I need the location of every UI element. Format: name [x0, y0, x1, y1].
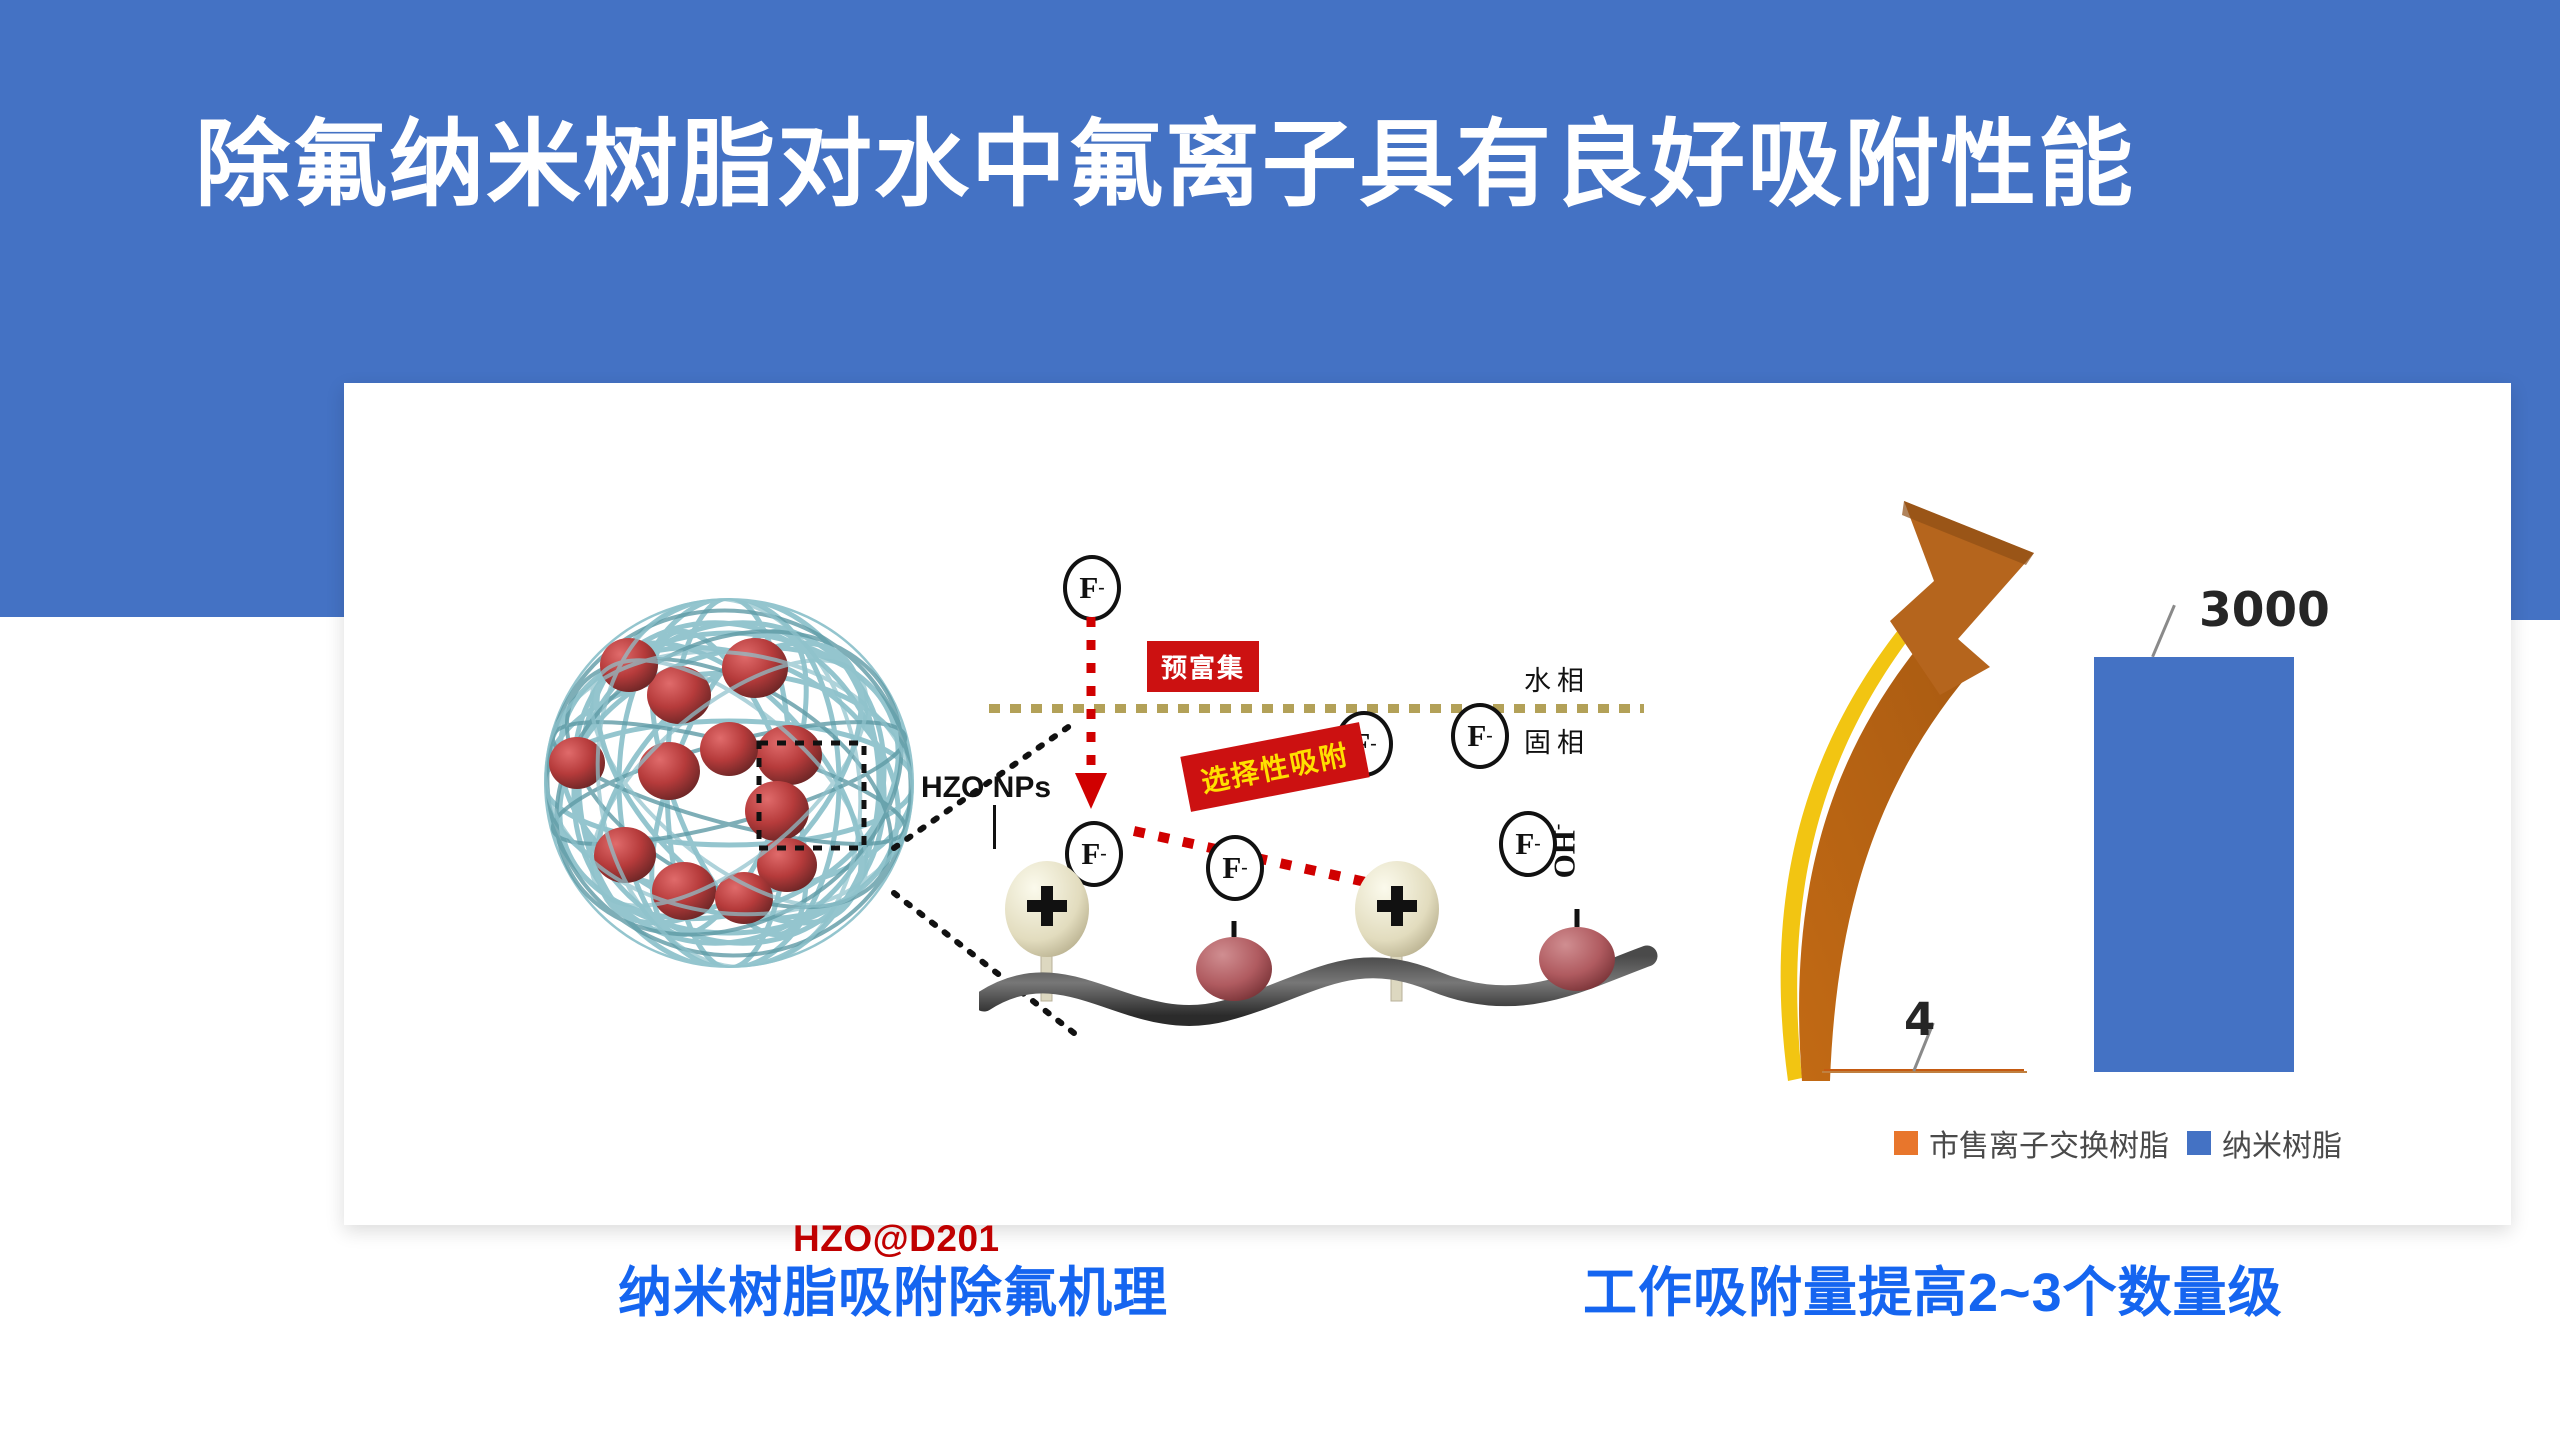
bound-fluoride-ion: F- [1206, 835, 1264, 901]
legend-label-nano-resin: 纳米树脂 [2222, 1121, 2342, 1165]
chart-legend: 市售离子交换树脂 纳米树脂 [1788, 1121, 2448, 1165]
legend-swatch-orange [1894, 1131, 1918, 1155]
legend-item-commercial-resin: 市售离子交换树脂 [1894, 1121, 2169, 1165]
aqueous-phase-label: 水相 [1524, 659, 1590, 698]
page-title: 除氟纳米树脂对水中氟离子具有良好吸附性能 [0, 118, 2330, 213]
legend-label-commercial-resin: 市售离子交换树脂 [1929, 1121, 2169, 1165]
fluoride-ion: F- [1063, 555, 1121, 621]
adsorption-capacity-chart: 3000 4 市售离子交换树脂 纳米树脂 [1744, 453, 2474, 1173]
hydroxyl-group-label: OH- [1546, 824, 1582, 879]
pre-enrichment-arrow-icon [1071, 617, 1131, 817]
value-label-3000: 3000 [2199, 583, 2330, 638]
chart-baseline [1822, 1071, 2027, 1073]
caption-capacity: 工作吸附量提高2~3个数量级 [1583, 1248, 2283, 1327]
polymer-chain-icon [979, 851, 1659, 1051]
leader-line-3000 [2151, 605, 2176, 658]
selective-adsorption-label: 选择性吸附 [1180, 722, 1369, 812]
value-label-4: 4 [1904, 993, 1935, 1046]
solid-phase-label: 固相 [1524, 721, 1590, 760]
pre-enrichment-label: 预富集 [1147, 641, 1259, 692]
left-blue-band [0, 383, 344, 617]
caption-mechanism: 纳米树脂吸附除氟机理 [618, 1248, 1168, 1327]
right-blue-band [2511, 383, 2560, 620]
content-card: HZO NPs HZO@D201 水相 固相 F- F- F- F- F- [344, 383, 2511, 1225]
legend-swatch-blue [2187, 1131, 2211, 1155]
adsorption-mechanism-diagram: 水相 固相 F- F- F- F- F- 预富集 选择性吸附 [979, 533, 1699, 1093]
bar-nano-resin [2094, 657, 2294, 1072]
slide-root: 除氟纳米树脂对水中氟离子具有良好吸附性能 [0, 0, 2560, 1440]
legend-item-nano-resin: 纳米树脂 [2187, 1121, 2342, 1165]
fluoride-ion: F- [1451, 703, 1509, 769]
